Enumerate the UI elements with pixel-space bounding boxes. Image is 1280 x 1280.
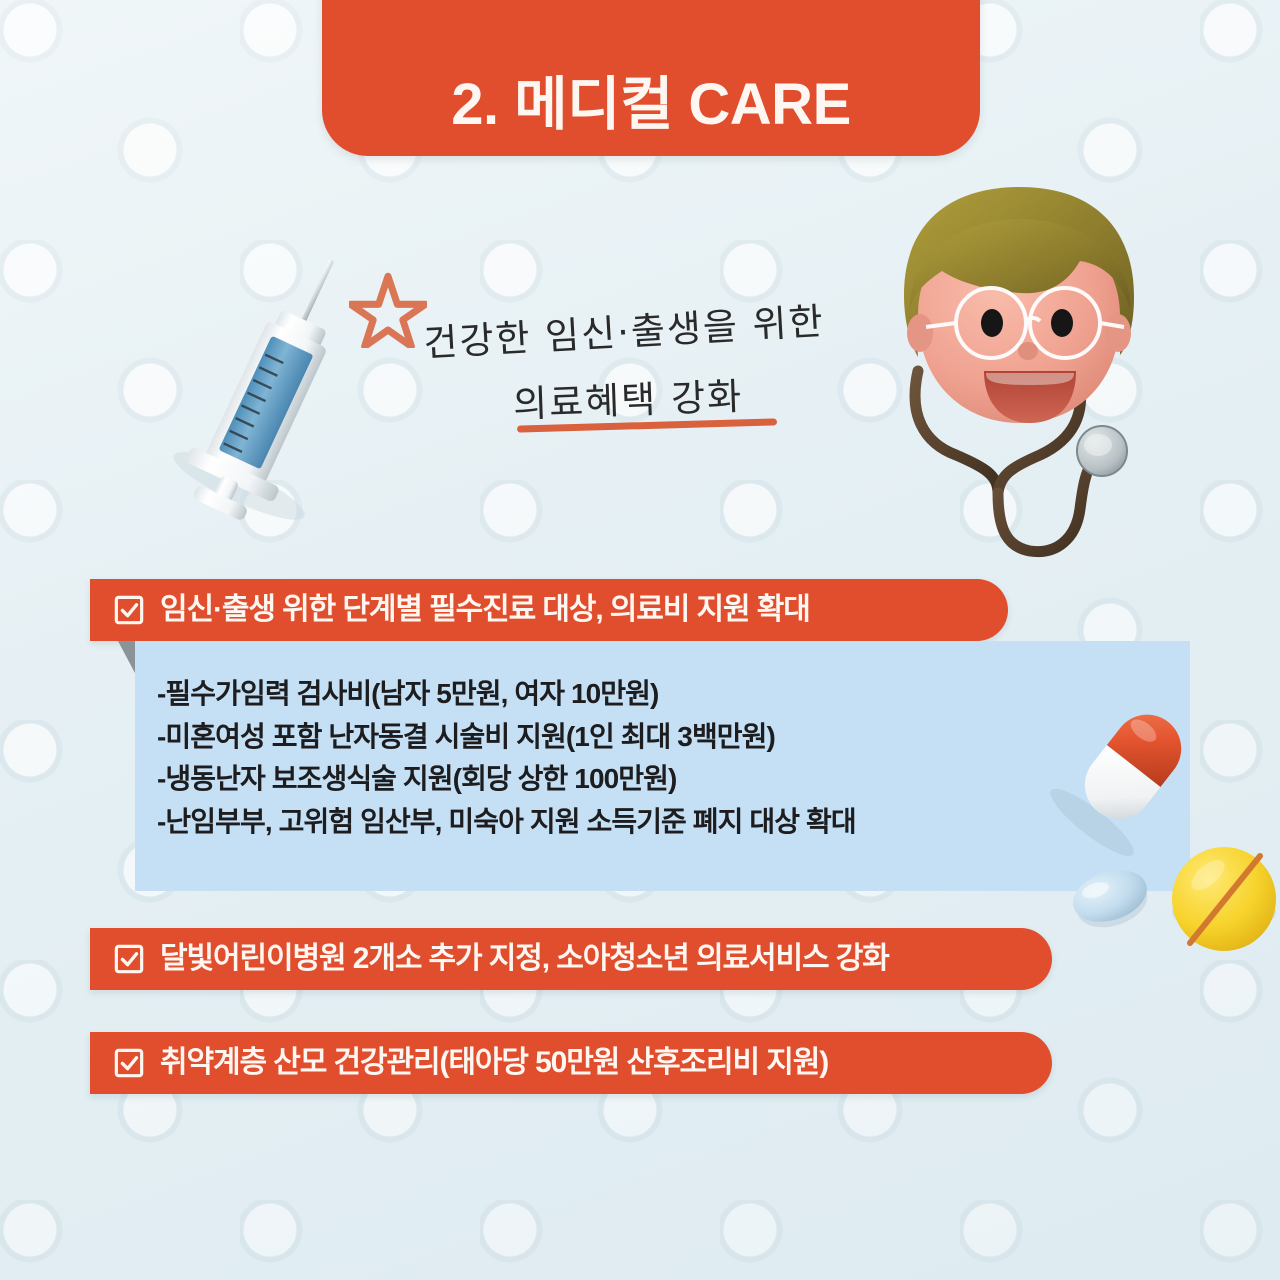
section-1-label: 임신·출생 위한 단계별 필수진료 대상, 의료비 지원 확대 bbox=[160, 595, 810, 625]
detail-line: -난임부부, 고위험 임산부, 미숙아 지원 소득기준 폐지 대상 확대 bbox=[157, 801, 1190, 844]
section-2-label: 달빛어린이병원 2개소 추가 지정, 소아청소년 의료서비스 강화 bbox=[160, 944, 889, 974]
detail-line: -필수가임력 검사비(남자 5만원, 여자 10만원) bbox=[157, 673, 1190, 716]
corner-fold-decoration bbox=[118, 641, 136, 675]
round-tablet-icon bbox=[1172, 847, 1276, 951]
infographic-poster: 2. 메디컬 CARE bbox=[0, 0, 1280, 1280]
section-3-label: 취약계층 산모 건강관리(태아당 50만원 산후조리비 지원) bbox=[160, 1048, 828, 1078]
title-banner: 2. 메디컬 CARE bbox=[322, 0, 980, 156]
checkbox-checked-icon bbox=[114, 595, 144, 625]
capsule-pill-icon bbox=[1048, 700, 1211, 865]
doctor-face-icon bbox=[880, 175, 1160, 565]
handwriting-line-1: 건강한 임신·출생을 위한 bbox=[422, 291, 826, 367]
pills-group bbox=[1048, 700, 1280, 965]
oval-tablet-icon bbox=[1066, 861, 1155, 936]
section-1-detail-box: -필수가임력 검사비(남자 5만원, 여자 10만원) -미혼여성 포함 난자동… bbox=[135, 641, 1190, 891]
section-2-banner[interactable]: 달빛어린이병원 2개소 추가 지정, 소아청소년 의료서비스 강화 bbox=[90, 928, 1052, 990]
section-1-banner[interactable]: 임신·출생 위한 단계별 필수진료 대상, 의료비 지원 확대 bbox=[90, 579, 1008, 641]
checkbox-checked-icon bbox=[114, 944, 144, 974]
handwriting-line-2: 의료혜택 강화 bbox=[512, 366, 744, 428]
section-3-banner[interactable]: 취약계층 산모 건강관리(태아당 50만원 산후조리비 지원) bbox=[90, 1032, 1052, 1094]
detail-line: -미혼여성 포함 난자동결 시술비 지원(1인 최대 3백만원) bbox=[157, 716, 1190, 759]
checkbox-checked-icon bbox=[114, 1048, 144, 1078]
detail-line: -냉동난자 보조생식술 지원(회당 상한 100만원) bbox=[157, 758, 1190, 801]
page-title: 2. 메디컬 CARE bbox=[451, 76, 851, 134]
handwritten-headline: 건강한 임신·출생을 위한 의료혜택 강화 bbox=[395, 288, 895, 438]
